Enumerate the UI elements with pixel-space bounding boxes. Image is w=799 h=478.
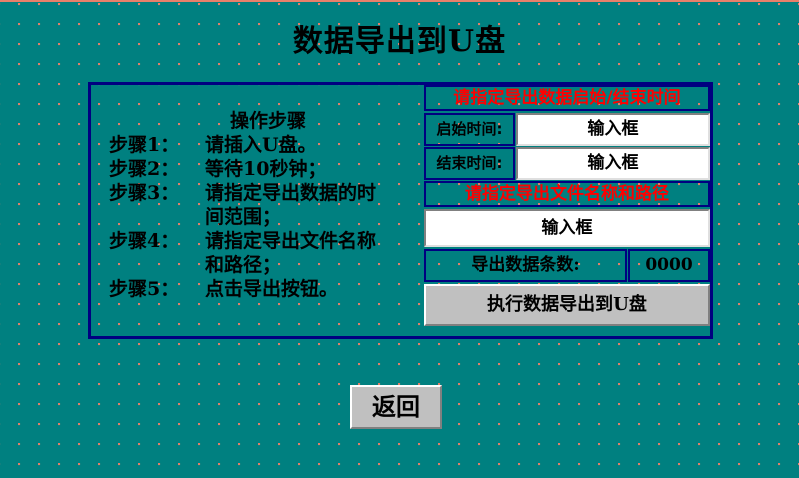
end-time-label: 结束时间: [424,147,515,180]
step-text-3: 请指定导出数据的时 间范围； [205,181,423,229]
export-to-usb-button[interactable]: 执行数据导出到U盘 [424,284,710,326]
record-count-value: 0000 [628,249,710,282]
step-label-1: 步骤1： [109,133,205,157]
step-item-4: 步骤4： 请指定导出文件名称 和路径； [109,229,423,277]
end-time-input[interactable]: 输入框 [516,147,710,180]
step-item-1: 步骤1： 请插入U盘。 [109,133,423,157]
start-time-label: 启始时间: [424,113,515,146]
export-form-column: 请指定导出数据启始/结束时间 启始时间: 输入框 结束时间: 输入框 请指定导出… [424,85,710,336]
step-text-4: 请指定导出文件名称 和路径； [205,229,423,277]
step-label-3: 步骤3： [109,181,205,205]
step-label-5: 步骤5： [109,277,205,301]
step-item-3: 步骤3： 请指定导出数据的时 间范围； [109,181,423,229]
file-path-input[interactable]: 输入框 [424,209,710,247]
start-time-row: 启始时间: 输入框 [424,113,710,146]
file-path-header: 请指定导出文件名称和路径 [424,181,710,207]
step-label-4: 步骤4： [109,229,205,253]
step-text-5: 点击导出按钮。 [205,277,423,301]
top-rule-divider [0,0,799,2]
screen-root: 数据导出到U盘 操作步骤 步骤1： 请插入U盘。 步骤2： 等待10秒钟； 步骤… [0,0,799,478]
step-text-1: 请插入U盘。 [205,133,423,157]
step-text-2: 等待10秒钟； [205,157,423,181]
end-time-row: 结束时间: 输入框 [424,147,710,180]
record-count-row: 导出数据条数: 0000 [424,249,710,282]
step-item-5: 步骤5： 点击导出按钮。 [109,277,423,301]
steps-list: 步骤1： 请插入U盘。 步骤2： 等待10秒钟； 步骤3： 请指定导出数据的时 … [109,133,423,301]
back-button[interactable]: 返回 [350,385,442,429]
time-range-header: 请指定导出数据启始/结束时间 [424,85,710,111]
page-title: 数据导出到U盘 [0,24,799,60]
step-item-2: 步骤2： 等待10秒钟； [109,157,423,181]
steps-heading: 操作步骤 [91,110,423,132]
main-panel: 操作步骤 步骤1： 请插入U盘。 步骤2： 等待10秒钟； 步骤3： 请指定导出… [88,82,713,339]
start-time-input[interactable]: 输入框 [516,113,710,146]
record-count-label: 导出数据条数: [424,249,627,282]
steps-panel: 操作步骤 步骤1： 请插入U盘。 步骤2： 等待10秒钟； 步骤3： 请指定导出… [91,85,423,336]
step-label-2: 步骤2： [109,157,205,181]
